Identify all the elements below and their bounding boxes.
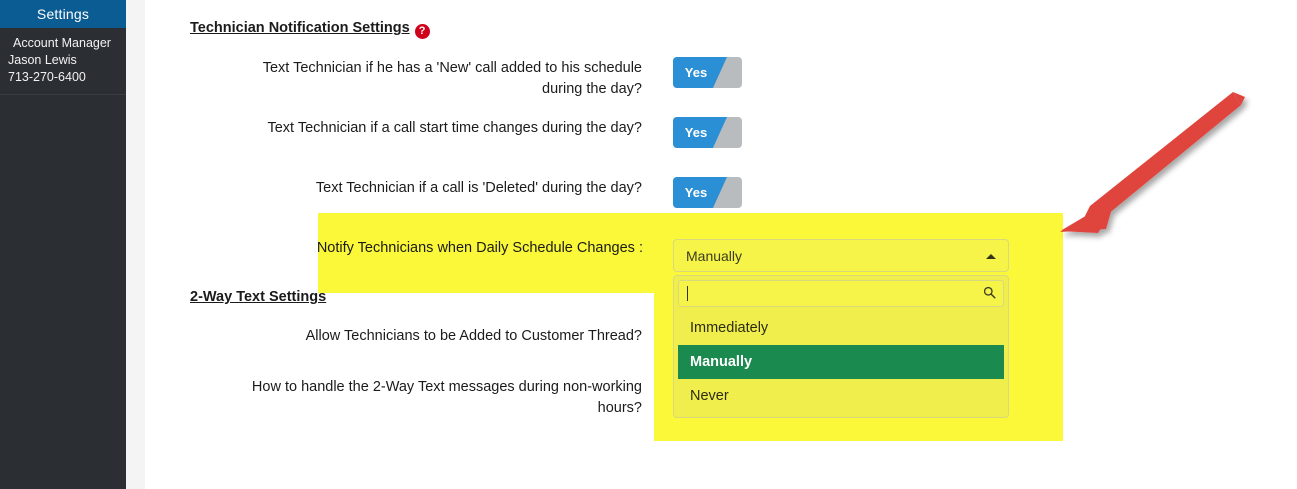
chevron-up-icon[interactable]: [986, 254, 996, 259]
dropdown-trigger[interactable]: Manually: [673, 239, 1009, 272]
section-title-text: Technician Notification Settings: [190, 20, 410, 36]
red-arrow-annotation: [1035, 70, 1265, 250]
sidebar: Settings Account Manager Jason Lewis 713…: [0, 0, 126, 489]
section-title-2way-text: 2-Way Text Settings: [190, 289, 326, 305]
sidebar-gutter: [126, 0, 145, 489]
text-cursor: [687, 286, 688, 301]
dropdown-selected-value: Manually: [686, 248, 742, 264]
account-phone: 713-270-6400: [8, 69, 120, 86]
question-label-deleted-call: Text Technician if a call is 'Deleted' d…: [222, 178, 642, 199]
toggle-value-label: Yes: [673, 117, 719, 148]
question-label-new-call: Text Technician if he has a 'New' call a…: [222, 58, 642, 100]
question-label-nonworking-hours: How to handle the 2-Way Text messages du…: [222, 377, 642, 419]
notify-schedule-dropdown[interactable]: Manually Immediately Manually N: [673, 239, 1009, 418]
main-content: Technician Notification Settings? 2-Way …: [145, 0, 1297, 489]
toggle-start-time-change[interactable]: Yes: [673, 117, 742, 148]
dropdown-option-list: Immediately Manually Never: [678, 311, 1004, 413]
dropdown-panel: Immediately Manually Never: [673, 275, 1009, 418]
toggle-value-label: Yes: [673, 177, 719, 208]
question-label-notify-daily-schedule: Notify Technicians when Daily Schedule C…: [175, 238, 643, 259]
section-title-technician-notification: Technician Notification Settings?: [190, 20, 430, 39]
search-icon[interactable]: [983, 286, 996, 299]
toggle-value-label: Yes: [673, 57, 719, 88]
sidebar-account-info: Account Manager Jason Lewis 713-270-6400: [0, 28, 126, 95]
sidebar-header-title: Settings: [0, 0, 126, 28]
question-label-start-time-change: Text Technician if a call start time cha…: [222, 118, 642, 139]
toggle-deleted-call[interactable]: Yes: [673, 177, 742, 208]
account-role: Account Manager: [8, 35, 120, 52]
dropdown-option-never[interactable]: Never: [678, 379, 1004, 413]
account-name: Jason Lewis: [8, 52, 120, 69]
settings-page: Settings Account Manager Jason Lewis 713…: [0, 0, 1297, 489]
question-mark-icon[interactable]: ?: [415, 24, 430, 39]
toggle-new-call[interactable]: Yes: [673, 57, 742, 88]
dropdown-search-field[interactable]: [678, 280, 1004, 307]
dropdown-option-immediately[interactable]: Immediately: [678, 311, 1004, 345]
question-label-add-technician-thread: Allow Technicians to be Added to Custome…: [222, 326, 642, 347]
dropdown-option-manually[interactable]: Manually: [678, 345, 1004, 379]
